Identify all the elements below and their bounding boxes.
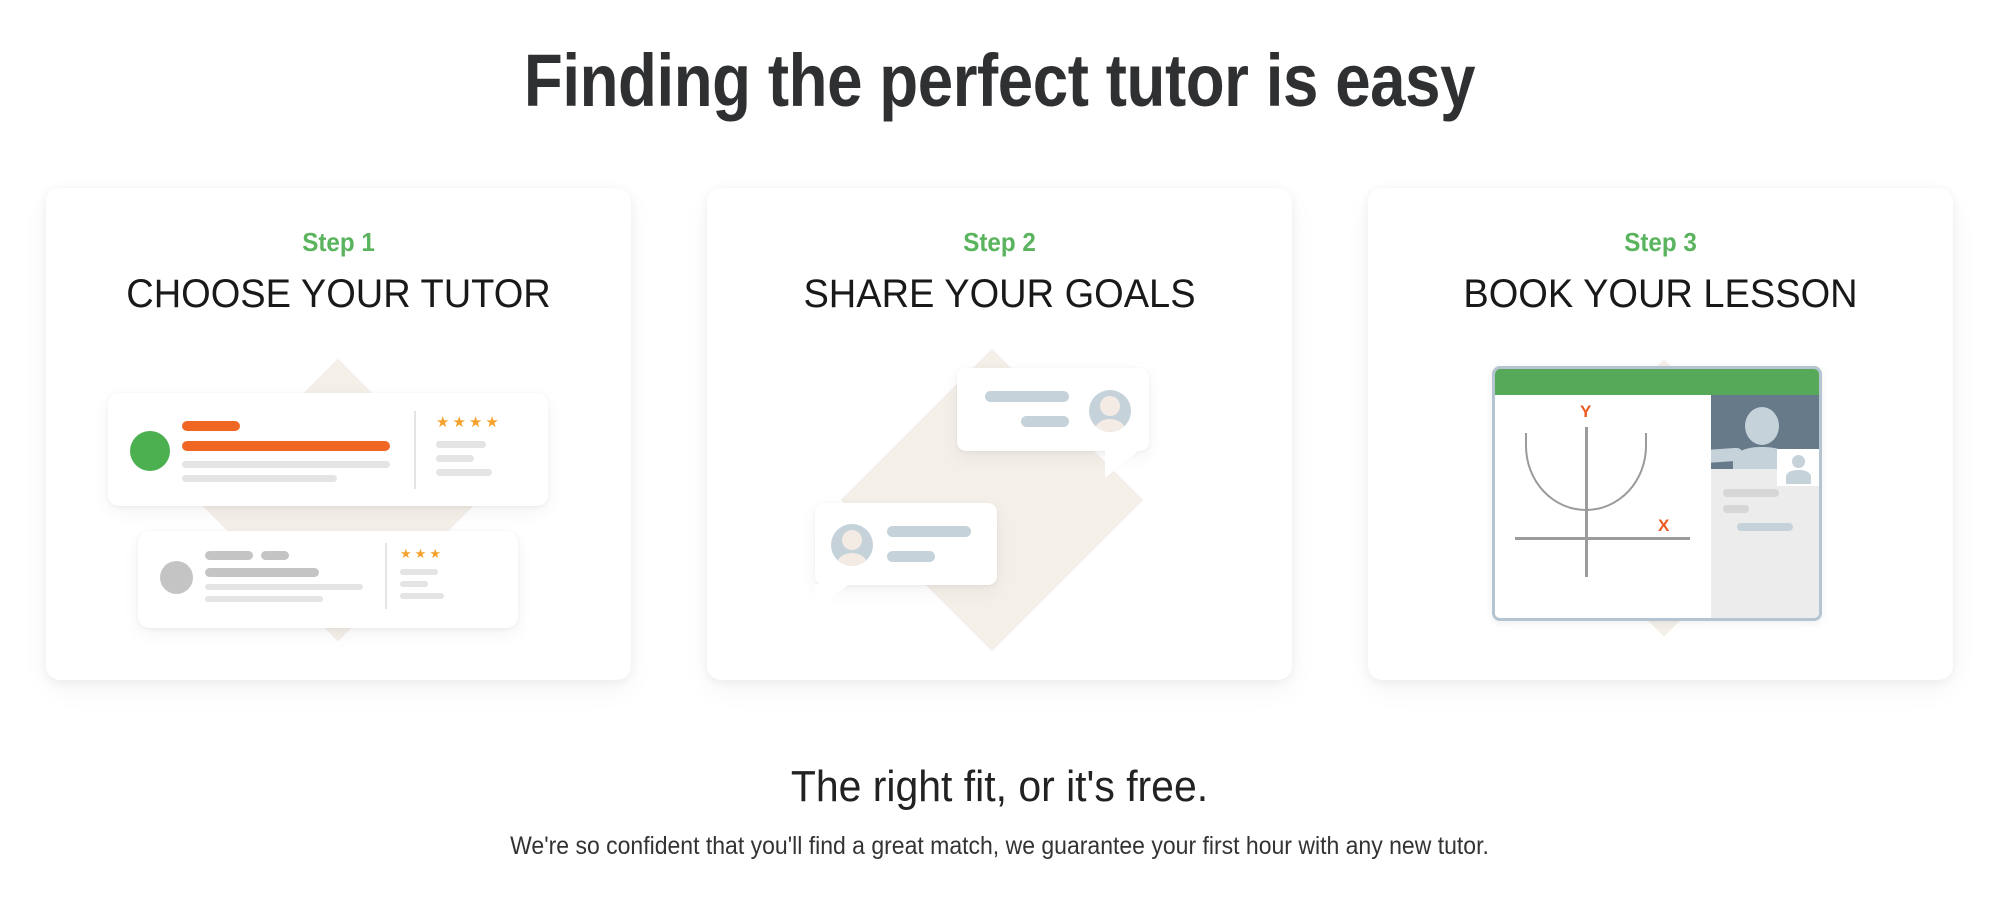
graph-x-axis-label: X <box>1658 517 1669 534</box>
chat-bubble-tail-icon <box>815 584 849 612</box>
tutor-avatar-icon <box>130 431 170 471</box>
guarantee-subtitle: We're so confident that you'll find a gr… <box>80 830 1919 862</box>
chat-message-bar <box>887 526 971 537</box>
guarantee-section: The right fit, or it's free. We're so co… <box>0 760 1999 862</box>
step-label-3: Step 3 <box>1388 227 1932 257</box>
chat-avatar-icon <box>1089 390 1131 432</box>
tutor-title-bar <box>182 441 390 451</box>
star-icon: ★ <box>429 547 441 560</box>
online-classroom-window: Y X <box>1492 366 1822 621</box>
person-head-icon <box>1792 455 1805 468</box>
star-icon: ★ <box>485 415 498 430</box>
tutor-name-bar <box>182 421 240 431</box>
step-card-1[interactable]: Step 1 CHOOSE YOUR TUTOR ★ ★ ★ ★ <box>46 188 631 680</box>
rating-detail-bar <box>400 593 444 599</box>
person-head-icon <box>1745 407 1779 445</box>
sidebar-text-bar <box>1737 523 1793 531</box>
chat-message-bar <box>1021 416 1069 427</box>
step-heading-3: BOOK YOUR LESSON <box>1383 268 1939 320</box>
step-label-2: Step 2 <box>727 227 1271 257</box>
tutor-title-bar <box>205 568 319 577</box>
sidebar-text-bar <box>1723 505 1749 513</box>
classroom-title-bar <box>1495 369 1819 395</box>
chat-bubble-student <box>815 503 997 585</box>
rating-detail-bar <box>400 581 428 587</box>
person-body-icon <box>1786 470 1811 484</box>
chat-message-bar <box>985 391 1069 402</box>
tutor-name-bar <box>261 551 289 560</box>
tutor-avatar-icon <box>160 561 193 594</box>
star-icon: ★ <box>400 547 412 560</box>
search-result-card-1: ★ ★ ★ ★ <box>108 393 548 506</box>
illustration-classroom: Y X <box>1368 338 1953 680</box>
step-card-3[interactable]: Step 3 BOOK YOUR LESSON Y X <box>1368 188 1953 680</box>
chat-avatar-icon <box>831 524 873 566</box>
steps-container: Step 1 CHOOSE YOUR TUTOR ★ ★ ★ ★ <box>46 188 1953 680</box>
step-card-2[interactable]: Step 2 SHARE YOUR GOALS <box>707 188 1292 680</box>
student-video-panel <box>1777 449 1819 486</box>
tutor-desc-bar <box>182 475 337 482</box>
chat-bubble-tutor <box>957 368 1149 451</box>
tutor-desc-bar <box>182 461 390 468</box>
chat-message-bar <box>887 551 935 562</box>
illustration-chat <box>707 338 1292 680</box>
card-divider <box>385 543 387 609</box>
classroom-whiteboard: Y X <box>1495 395 1717 621</box>
classroom-sidebar <box>1711 395 1819 621</box>
star-icon: ★ <box>469 415 482 430</box>
search-result-card-2: ★ ★ ★ <box>138 531 518 628</box>
tutor-name-bar <box>205 551 253 560</box>
step-label-1: Step 1 <box>66 227 610 257</box>
card-divider <box>414 411 416 489</box>
rating-detail-bar <box>436 455 474 462</box>
star-icon: ★ <box>415 547 427 560</box>
tutor-desc-bar <box>205 584 363 590</box>
star-icon: ★ <box>452 415 465 430</box>
page-title: Finding the perfect tutor is easy <box>140 38 1859 124</box>
tutor-desc-bar <box>205 596 323 602</box>
illustration-tutor-search: ★ ★ ★ ★ <box>46 338 631 680</box>
graph-parabola-curve <box>1525 433 1647 511</box>
star-icon: ★ <box>436 415 449 430</box>
rating-detail-bar <box>436 441 486 448</box>
sidebar-text-bar <box>1723 489 1779 497</box>
rating-stars-4: ★ ★ ★ ★ <box>436 415 499 430</box>
how-it-works-section: Finding the perfect tutor is easy Step 1… <box>0 0 1999 902</box>
step-heading-2: SHARE YOUR GOALS <box>722 268 1278 320</box>
rating-detail-bar <box>436 469 492 476</box>
rating-detail-bar <box>400 569 438 575</box>
chat-bubble-tail-icon <box>1105 450 1139 478</box>
guarantee-title: The right fit, or it's free. <box>70 760 1929 814</box>
rating-stars-3: ★ ★ ★ <box>400 547 441 560</box>
graph-y-axis-label: Y <box>1580 403 1591 420</box>
step-heading-1: CHOOSE YOUR TUTOR <box>61 268 617 320</box>
graph-x-axis <box>1515 537 1690 540</box>
